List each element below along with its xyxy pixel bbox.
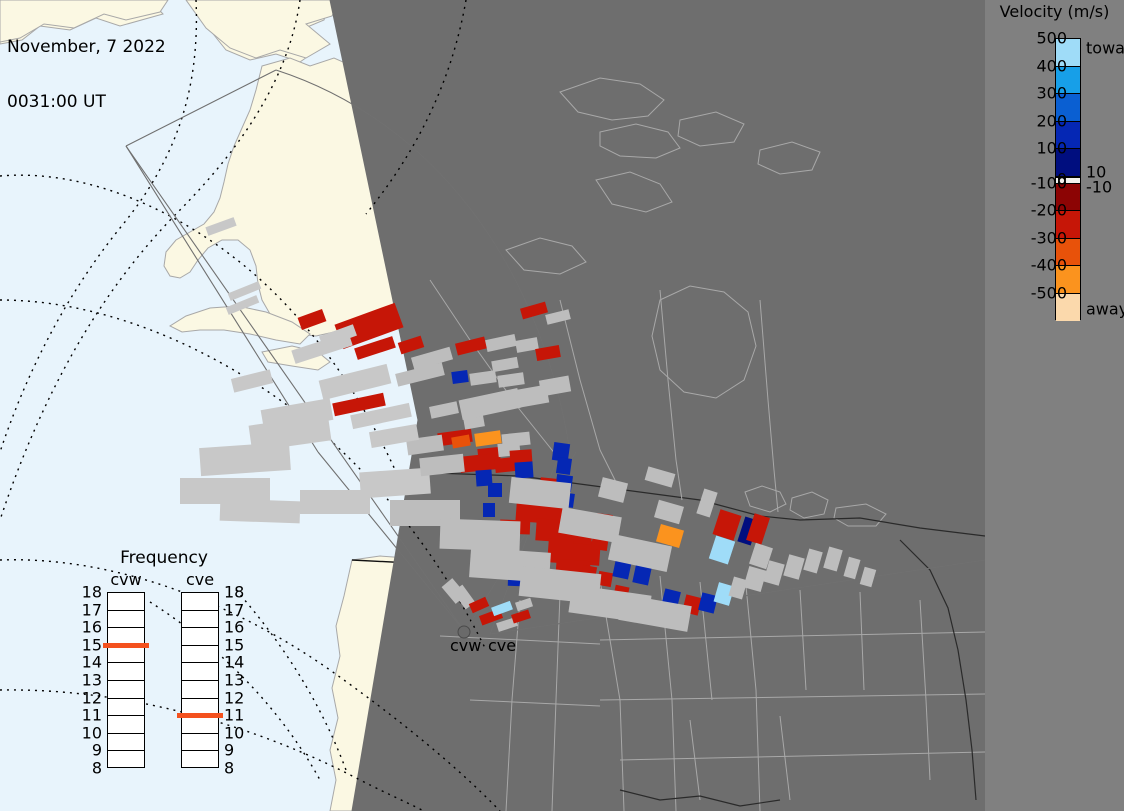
velocity-cell (298, 309, 327, 330)
velocity-cell (729, 576, 748, 599)
velocity-cell (398, 336, 425, 355)
velocity-cell (823, 546, 843, 571)
frequency-tick-cvw-16: 16 (70, 618, 102, 637)
frequency-tick-cve-16: 16 (224, 618, 256, 637)
velocity-cell (539, 376, 571, 397)
velocity-tick-500: 500 (1036, 29, 1067, 48)
velocity-cell (220, 499, 301, 524)
velocity-cell (783, 554, 804, 580)
frequency-radar-name-cve: cve (172, 570, 228, 589)
velocity-cell (860, 567, 876, 588)
frequency-cell (108, 593, 144, 611)
velocity-cell (698, 592, 718, 613)
velocity-tick--100: -100 (1031, 173, 1067, 192)
frequency-tick-cve-9: 9 (224, 741, 256, 760)
frequency-cell (182, 611, 218, 629)
frequency-radar-name-cvw: cvw (98, 570, 154, 589)
velocity-cell (483, 503, 495, 517)
velocity-cell (205, 217, 236, 236)
frequency-tick-cvw-15: 15 (70, 635, 102, 654)
frequency-cell (182, 716, 218, 734)
superdarn-velocity-map: cvw cve November, 7 2022 0031:00 UT Freq… (0, 0, 1124, 811)
frequency-cell (182, 646, 218, 664)
velocity-cell (545, 309, 571, 325)
velocity-cell (654, 500, 684, 524)
frequency-tick-cve-11: 11 (224, 706, 256, 725)
velocity-tick-200: 200 (1036, 111, 1067, 130)
frequency-tick-cve-10: 10 (224, 723, 256, 742)
velocity-cell (497, 372, 524, 388)
frequency-tick-cvw-9: 9 (70, 741, 102, 760)
velocity-cell (491, 357, 519, 372)
velocity-colorbar: Velocity (m/s) 5004003002001000-100-200-… (985, 0, 1124, 811)
frequency-cell (182, 681, 218, 699)
timestamp-title: November, 7 2022 0031:00 UT (7, 2, 166, 147)
frequency-tick-cve-15: 15 (224, 635, 256, 654)
frequency-cell (108, 699, 144, 717)
frequency-cell (108, 734, 144, 752)
frequency-marker-cve (177, 713, 223, 718)
frequency-cell (108, 646, 144, 664)
velocity-cell (511, 609, 531, 623)
velocity-cell (696, 488, 717, 517)
velocity-cell (359, 468, 431, 499)
velocity-cell (300, 490, 370, 514)
frequency-tick-cvw-12: 12 (70, 688, 102, 707)
frequency-tick-cvw-11: 11 (70, 706, 102, 725)
velocity-cell (429, 401, 459, 419)
frequency-tick-cve-12: 12 (224, 688, 256, 707)
velocity-tick--300: -300 (1031, 228, 1067, 247)
frequency-legend-title: Frequency (84, 548, 244, 568)
velocity-cell (535, 345, 561, 361)
velocity-label-inner-low: -10 (1086, 178, 1112, 197)
velocity-cell (491, 601, 513, 616)
frequency-cell (182, 628, 218, 646)
velocity-tick-100: 100 (1036, 139, 1067, 158)
frequency-scale-cvw[interactable] (107, 592, 145, 768)
frequency-tick-cve-17: 17 (224, 600, 256, 619)
frequency-cell (182, 751, 218, 769)
velocity-cell (199, 442, 291, 476)
velocity-cell (455, 337, 487, 356)
frequency-tick-cvw-13: 13 (70, 671, 102, 690)
velocity-cell (803, 548, 823, 573)
velocity-cell (485, 334, 517, 352)
velocity-cell (451, 370, 469, 384)
velocity-cell (514, 461, 533, 478)
velocity-tick--500: -500 (1031, 283, 1067, 302)
velocity-cell (231, 369, 273, 392)
velocity-cell (743, 566, 766, 592)
frequency-tick-cve-14: 14 (224, 653, 256, 672)
velocity-cell (515, 598, 533, 612)
velocity-cell (419, 454, 465, 477)
velocity-cell (843, 557, 860, 580)
frequency-tick-cvw-10: 10 (70, 723, 102, 742)
velocity-tick-300: 300 (1036, 84, 1067, 103)
frequency-scale-cve[interactable] (181, 592, 219, 768)
map-canvas[interactable]: cvw cve November, 7 2022 0031:00 UT Freq… (0, 0, 985, 811)
frequency-tick-cvw-14: 14 (70, 653, 102, 672)
velocity-cell (515, 337, 539, 353)
velocity-cell (469, 370, 496, 386)
velocity-label-toward: toward (1086, 39, 1124, 58)
frequency-cell (108, 751, 144, 769)
frequency-marker-cvw (103, 643, 149, 648)
velocity-label-away: away (1086, 300, 1124, 319)
velocity-cell (475, 469, 492, 486)
velocity-tick--200: -200 (1031, 201, 1067, 220)
frequency-cell (108, 681, 144, 699)
velocity-cell (440, 519, 521, 552)
velocity-cell (520, 302, 548, 320)
velocity-cell (556, 457, 572, 475)
title-time: 0031:00 UT (7, 93, 166, 112)
frequency-cell (182, 593, 218, 611)
velocity-cell (598, 477, 628, 503)
frequency-tick-cve-18: 18 (224, 583, 256, 602)
frequency-legend: Frequency cvw 18171615141312111098 cve 1… (84, 548, 244, 793)
site-label-cve: cve (488, 636, 516, 655)
frequency-cell (108, 716, 144, 734)
title-date: November, 7 2022 (7, 38, 166, 57)
frequency-tick-cve-13: 13 (224, 671, 256, 690)
velocity-tick--400: -400 (1031, 256, 1067, 275)
frequency-tick-cvw-17: 17 (70, 600, 102, 619)
velocity-cell (618, 594, 691, 632)
frequency-cell (108, 663, 144, 681)
frequency-cell (182, 734, 218, 752)
velocity-cell (645, 466, 676, 487)
site-label-cvw: cvw (450, 636, 481, 655)
frequency-cell (108, 611, 144, 629)
velocity-colorbar-title: Velocity (m/s) (985, 2, 1124, 21)
frequency-tick-cvw-8: 8 (70, 759, 102, 778)
frequency-tick-cve-8: 8 (224, 759, 256, 778)
frequency-cell (182, 663, 218, 681)
frequency-tick-cvw-18: 18 (70, 583, 102, 602)
velocity-tick-400: 400 (1036, 56, 1067, 75)
